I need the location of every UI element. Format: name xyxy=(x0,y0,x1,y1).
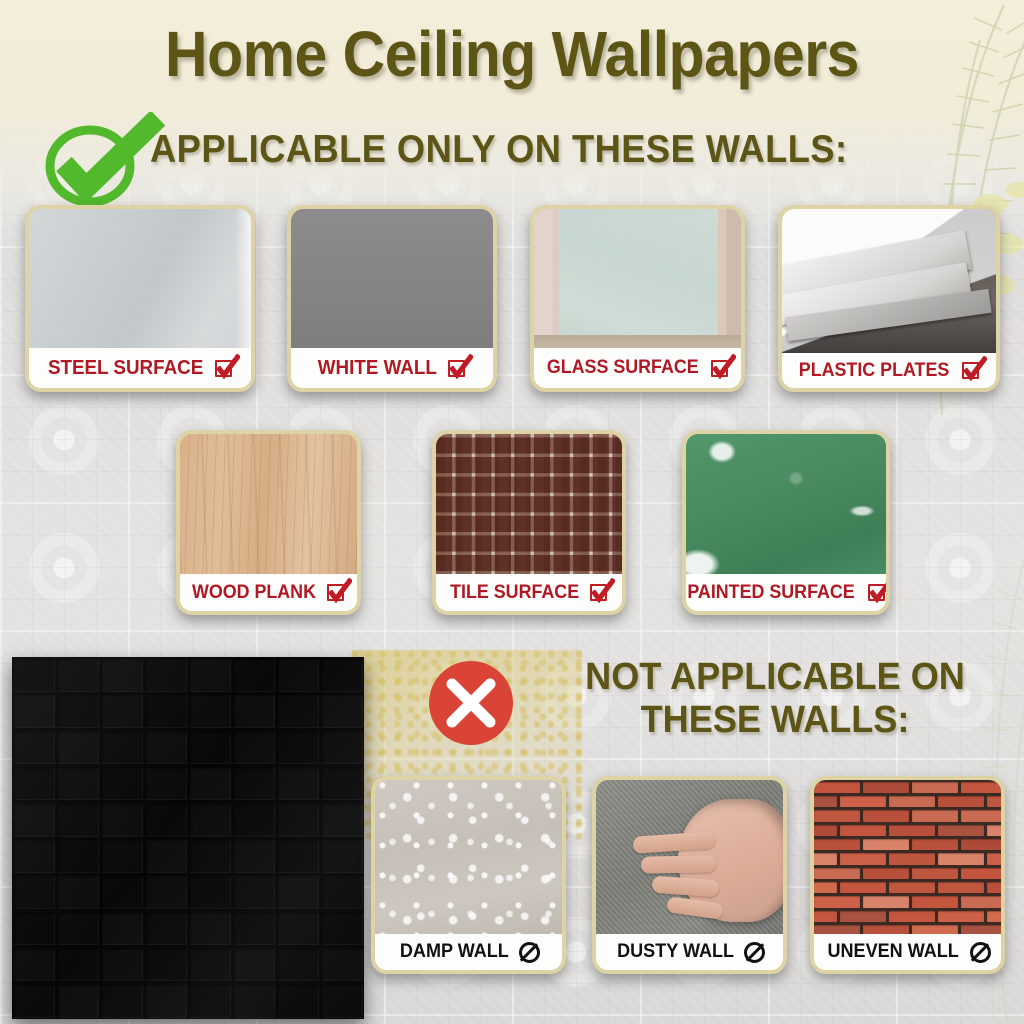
product-swatch-black-brick-panel[interactable] xyxy=(12,657,364,1019)
red-check-icon xyxy=(448,358,470,379)
tile-label-bar: UNEVEN WALL xyxy=(814,934,1001,970)
tile-label-text: STEEL SURFACE xyxy=(48,357,203,380)
green-check-icon xyxy=(34,112,166,208)
tile-tile-surface[interactable]: TILE SURFACE xyxy=(432,430,626,615)
infographic-page: Home Ceiling Wallpapers APPLICABLE ONLY … xyxy=(0,0,1024,1024)
applicable-heading: APPLICABLE ONLY ON THESE WALLS: xyxy=(150,130,950,169)
not-applicable-heading-line2: THESE WALLS: xyxy=(552,699,999,742)
tile-label-bar: PAINTED SURFACE xyxy=(686,574,886,611)
tile-photo-plastic xyxy=(782,209,996,361)
tile-wood-plank[interactable]: WOOD PLANK xyxy=(176,430,361,615)
tile-label-text: PLASTIC PLATES xyxy=(799,360,950,382)
tile-label-text: DUSTY WALL xyxy=(617,941,734,963)
red-check-icon xyxy=(711,358,733,379)
tile-photo-brick xyxy=(814,780,1001,938)
red-x-icon xyxy=(428,660,514,746)
tile-steel-surface[interactable]: STEEL SURFACE xyxy=(25,205,255,392)
red-check-icon xyxy=(215,358,237,379)
not-applicable-heading: NOT APPLICABLE ON THESE WALLS: xyxy=(552,656,999,741)
tile-photo-dusty xyxy=(596,780,783,938)
tile-photo-damp xyxy=(375,780,562,938)
tile-white-wall[interactable]: WHITE WALL xyxy=(287,205,497,392)
tile-label-bar: WHITE WALL xyxy=(291,348,493,388)
page-title: Home Ceiling Wallpapers xyxy=(41,22,983,86)
tile-label-bar: GLASS SURFACE xyxy=(534,348,741,388)
tile-dusty-wall[interactable]: DUSTY WALL xyxy=(592,776,787,974)
tile-label-text: GLASS SURFACE xyxy=(547,357,699,379)
tile-photo-glass xyxy=(534,209,741,356)
tile-label-text: PAINTED SURFACE xyxy=(688,582,855,604)
tile-glass-surface[interactable]: GLASS SURFACE xyxy=(530,205,745,392)
tile-label-bar: TILE SURFACE xyxy=(436,574,622,611)
tile-photo-wood xyxy=(180,434,357,582)
tile-damp-wall[interactable]: DAMP WALL xyxy=(371,776,566,974)
tile-photo-steel xyxy=(29,209,251,356)
tile-label-bar: STEEL SURFACE xyxy=(29,348,251,388)
tile-painted-surface[interactable]: PAINTED SURFACE xyxy=(682,430,890,615)
tile-label-bar: DAMP WALL xyxy=(375,934,562,970)
prohibited-icon xyxy=(519,942,540,963)
tile-label-text: WOOD PLANK xyxy=(192,582,316,604)
tile-label-text: UNEVEN WALL xyxy=(828,941,959,963)
tile-label-text: DAMP WALL xyxy=(400,941,509,963)
tile-photo-white-wall xyxy=(291,209,493,356)
prohibited-icon xyxy=(970,942,991,963)
red-check-icon xyxy=(327,582,349,603)
tile-label-bar: WOOD PLANK xyxy=(180,574,357,611)
tile-label-bar: DUSTY WALL xyxy=(596,934,783,970)
tile-photo-mosaic xyxy=(436,434,622,582)
tile-label-text: TILE SURFACE xyxy=(450,582,579,604)
prohibited-icon xyxy=(744,942,765,963)
tile-uneven-wall[interactable]: UNEVEN WALL xyxy=(810,776,1005,974)
red-check-icon xyxy=(868,582,890,603)
tile-label-text: WHITE WALL xyxy=(318,357,437,380)
tile-plastic-plates[interactable]: PLASTIC PLATES xyxy=(778,205,1000,392)
tile-label-bar: PLASTIC PLATES xyxy=(782,353,996,388)
red-check-icon xyxy=(962,360,984,381)
not-applicable-heading-line1: NOT APPLICABLE ON xyxy=(552,656,999,699)
tile-photo-painted xyxy=(686,434,886,582)
red-check-icon xyxy=(590,582,612,603)
